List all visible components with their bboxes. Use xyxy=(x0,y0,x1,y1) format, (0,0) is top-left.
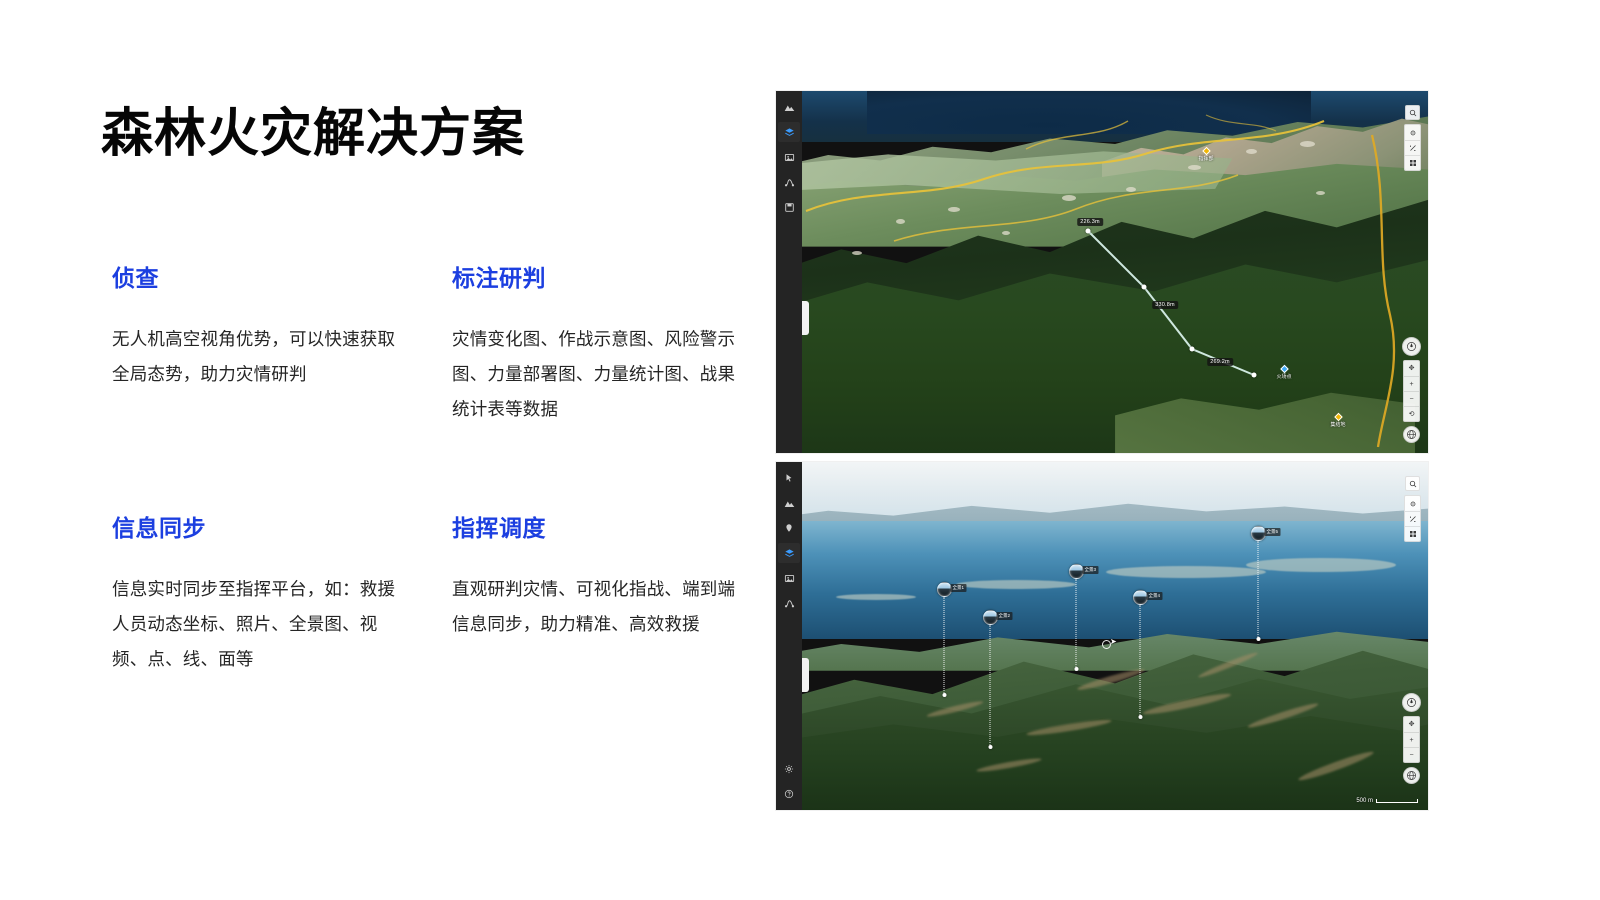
slide-root: 森林火灾解决方案 侦查 无人机高空视角优势，可以快速获取全局态势，助力灾情研判 … xyxy=(0,0,1600,900)
search-icon[interactable] xyxy=(1405,105,1420,120)
marker-icon[interactable] xyxy=(778,518,800,538)
feature-body: 无人机高空视角优势，可以快速获取全局态势，助力灾情研判 xyxy=(112,322,397,392)
panorama-label: 全景2 xyxy=(997,612,1013,620)
grid-icon[interactable] xyxy=(1405,155,1420,170)
panorama-label: 全景3 xyxy=(1083,566,1099,574)
sea-island xyxy=(836,594,916,600)
zoom-controls: ✥ + − xyxy=(1403,716,1420,763)
panorama-anchor xyxy=(1074,667,1078,671)
image-icon[interactable] xyxy=(778,568,800,588)
zoom-out-icon[interactable]: − xyxy=(1404,391,1419,406)
panorama-sphere-icon xyxy=(937,582,952,597)
location-icon[interactable] xyxy=(1405,496,1420,511)
cursor-icon[interactable] xyxy=(778,468,800,488)
panel-drag-handle[interactable] xyxy=(802,301,809,335)
panorama-anchor xyxy=(942,693,946,697)
layers-icon[interactable] xyxy=(778,122,800,142)
panorama-stem xyxy=(990,625,991,745)
measure-icon[interactable] xyxy=(1405,511,1420,526)
feature-grid: 侦查 无人机高空视角优势，可以快速获取全局态势，助力灾情研判 标注研判 灾情变化… xyxy=(112,265,752,715)
panorama-label: 全景5 xyxy=(1265,528,1281,536)
measure-node[interactable] xyxy=(1142,285,1147,290)
feature-heading: 指挥调度 xyxy=(452,515,752,543)
water-body xyxy=(867,91,1310,134)
feature-body: 信息实时同步至指挥平台，如：救援人员动态坐标、照片、全景图、视频、点、线、面等 xyxy=(112,572,397,677)
screenshot-terrain-measure: 226.3m 330.8m 269.2m 火场点 集结地 指挥部 xyxy=(776,91,1428,453)
poi-label: 指挥部 xyxy=(1198,155,1213,162)
feature-block-info-sync: 信息同步 信息实时同步至指挥平台，如：救援人员动态坐标、照片、全景图、视频、点、… xyxy=(112,515,412,715)
route-icon[interactable] xyxy=(778,172,800,192)
reset-icon[interactable]: ⟲ xyxy=(1404,406,1419,421)
location-icon[interactable] xyxy=(1405,125,1420,140)
map-canvas-bottom: 全景1 全景2 全景3 全景4 xyxy=(776,462,1428,810)
poi-diamond-icon xyxy=(1334,413,1342,421)
screenshot-panorama-view: 全景1 全景2 全景3 全景4 xyxy=(776,462,1428,810)
panorama-marker[interactable]: 全景3 xyxy=(1069,564,1084,671)
panorama-label: 全景4 xyxy=(1147,592,1163,600)
mountain-icon[interactable] xyxy=(778,97,800,117)
panorama-stem xyxy=(1258,541,1259,637)
search-icon[interactable] xyxy=(1405,476,1420,491)
map-tool-group xyxy=(1404,495,1421,542)
scale-bar-line xyxy=(1376,799,1418,803)
measure-label: 330.8m xyxy=(1152,301,1178,309)
settings-icon[interactable] xyxy=(778,759,800,779)
route-icon[interactable] xyxy=(778,593,800,613)
map-navigation-bottom: ✥ + − xyxy=(1402,693,1421,784)
map-canvas-top: 226.3m 330.8m 269.2m 火场点 集结地 指挥部 xyxy=(776,91,1428,453)
image-icon[interactable] xyxy=(778,147,800,167)
panorama-sphere-icon xyxy=(1069,564,1084,579)
map-navigation-top: ✥ + − ⟲ xyxy=(1402,337,1421,443)
layers-icon[interactable] xyxy=(778,543,800,563)
feature-heading: 标注研判 xyxy=(452,265,752,293)
globe-icon[interactable] xyxy=(1403,426,1420,443)
poi-label: 集结地 xyxy=(1330,421,1345,428)
poi-diamond-icon xyxy=(1280,365,1288,373)
grid-icon[interactable] xyxy=(1405,526,1420,541)
measure-label: 226.3m xyxy=(1077,218,1103,226)
feature-body: 灾情变化图、作战示意图、风险警示图、力量部署图、力量统计图、战果统计表等数据 xyxy=(452,322,737,427)
zoom-out-icon[interactable]: − xyxy=(1404,747,1419,762)
map-poi-marker[interactable]: 集结地 xyxy=(1330,414,1345,428)
measure-node[interactable] xyxy=(1190,347,1195,352)
pan-icon[interactable]: ✥ xyxy=(1404,717,1419,732)
panorama-marker[interactable]: 全景5 xyxy=(1251,526,1266,641)
poi-diamond-icon xyxy=(1202,147,1210,155)
feature-block-annotation: 标注研判 灾情变化图、作战示意图、风险警示图、力量部署图、力量统计图、战果统计表… xyxy=(452,265,752,515)
feature-block-reconnaissance: 侦查 无人机高空视角优势，可以快速获取全局态势，助力灾情研判 xyxy=(112,265,412,515)
measure-icon[interactable] xyxy=(1405,140,1420,155)
pan-icon[interactable]: ✥ xyxy=(1404,361,1419,376)
zoom-in-icon[interactable]: + xyxy=(1404,376,1419,391)
panorama-stem xyxy=(1076,579,1077,667)
measure-label: 269.2m xyxy=(1207,358,1233,366)
map-tool-group xyxy=(1404,124,1421,171)
panorama-stem xyxy=(944,597,945,693)
panel-drag-handle[interactable] xyxy=(802,658,809,692)
panorama-anchor xyxy=(988,745,992,749)
map-tools-top xyxy=(1404,105,1421,171)
measure-node[interactable] xyxy=(1086,229,1091,234)
zoom-controls: ✥ + − ⟲ xyxy=(1403,360,1420,422)
map-poi-marker[interactable]: 指挥部 xyxy=(1198,148,1213,162)
save-icon[interactable] xyxy=(778,197,800,217)
panorama-sphere-icon xyxy=(1133,590,1148,605)
panorama-marker[interactable]: 全景2 xyxy=(983,610,998,749)
app-rail-top xyxy=(776,91,802,453)
compass-icon[interactable] xyxy=(1402,693,1421,712)
panorama-label: 全景1 xyxy=(951,584,967,592)
panorama-sphere-icon xyxy=(1251,526,1266,541)
measure-node[interactable] xyxy=(1252,373,1257,378)
feature-block-command-dispatch: 指挥调度 直观研判灾情、可视化指战、端到端信息同步，助力精准、高效救援 xyxy=(452,515,752,715)
help-icon[interactable] xyxy=(778,784,800,804)
page-title: 森林火灾解决方案 xyxy=(101,105,525,165)
app-rail-bottom-group xyxy=(776,759,802,804)
mouse-cursor-icon: ➤ xyxy=(1110,638,1117,646)
sea-island xyxy=(956,580,1076,589)
panorama-marker[interactable]: 全景1 xyxy=(937,582,952,697)
feature-body: 直观研判灾情、可视化指战、端到端信息同步，助力精准、高效救援 xyxy=(452,572,737,642)
sea-island xyxy=(1106,566,1266,578)
zoom-in-icon[interactable]: + xyxy=(1404,732,1419,747)
panorama-anchor xyxy=(1138,715,1142,719)
scale-label: 500 m xyxy=(1356,798,1373,804)
poi-label: 火场点 xyxy=(1276,373,1291,380)
compass-icon[interactable] xyxy=(1402,337,1421,356)
feature-heading: 侦查 xyxy=(112,265,412,293)
feature-heading: 信息同步 xyxy=(112,515,412,543)
map-scale-bar: 500 m xyxy=(1356,798,1418,804)
globe-icon[interactable] xyxy=(1403,767,1420,784)
map-tools-bottom xyxy=(1404,476,1421,542)
mountain-icon[interactable] xyxy=(778,493,800,513)
sea-layer xyxy=(776,521,1428,639)
app-rail-bottom xyxy=(776,462,802,810)
panorama-stem xyxy=(1140,605,1141,715)
panorama-sphere-icon xyxy=(983,610,998,625)
map-poi-marker[interactable]: 火场点 xyxy=(1276,366,1291,380)
panorama-anchor xyxy=(1256,637,1260,641)
panorama-marker[interactable]: 全景4 xyxy=(1133,590,1148,719)
sea-island xyxy=(1246,558,1396,572)
